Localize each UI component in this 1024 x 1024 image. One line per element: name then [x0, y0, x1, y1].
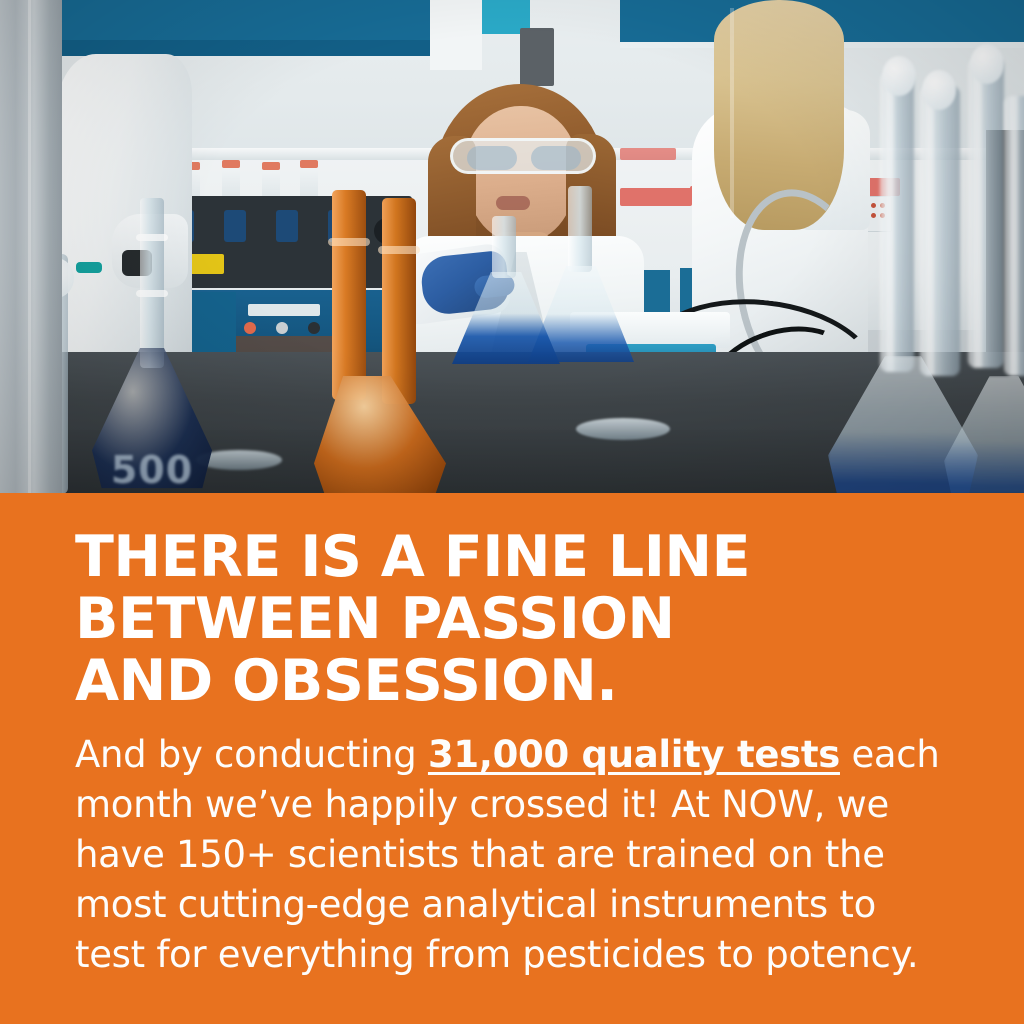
vial-cap: [262, 162, 280, 170]
laboratory-photo: 500: [0, 0, 1024, 493]
highlight: [1010, 96, 1018, 376]
column-seam: [28, 0, 31, 493]
volumetric-flask-500: 500: [92, 198, 212, 493]
flask-graduation-ring: [328, 238, 370, 246]
flask-neck: [332, 190, 366, 400]
outlet-dot: [871, 203, 876, 208]
page-title: THERE IS A FINE LINE BETWEEN PASSION AND…: [75, 526, 965, 712]
goggle-lens-left: [467, 146, 517, 170]
amber-volumetric-flasks: [318, 190, 448, 493]
flask-graduation-ring: [136, 234, 168, 241]
watch-glass: [576, 418, 670, 440]
glass-cylinder: [1004, 96, 1024, 376]
social-graphic-canvas: 500 THERE IS A FINE LINE BETWEEN PASSION…: [0, 0, 1024, 1024]
cylinder-stopper: [922, 70, 956, 110]
goggle-lens-right: [531, 146, 581, 170]
highlight: [926, 86, 934, 376]
vial-cap: [222, 160, 240, 168]
structural-column: [0, 0, 62, 493]
rack-vial: [224, 210, 246, 242]
flask-neck: [492, 216, 516, 278]
cylinder-stopper: [970, 44, 1004, 84]
flask-volume-marking: 500: [104, 448, 200, 492]
highlight: [886, 72, 894, 372]
highlight: [974, 58, 982, 368]
stat-emphasis-quality-tests: 31,000 quality tests: [428, 733, 840, 776]
erlenmeyer-flask-blue: [452, 216, 560, 364]
teal-cap-right: [76, 262, 102, 273]
mouth: [496, 196, 530, 210]
flask-body: [452, 272, 560, 364]
flask-neck: [382, 198, 416, 404]
rack-vial: [276, 210, 298, 242]
headline-line-1: THERE IS A FINE LINE: [75, 526, 965, 588]
orange-text-panel: THERE IS A FINE LINE BETWEEN PASSION AND…: [0, 493, 1024, 1024]
flask-neck: [140, 198, 164, 368]
wall-mounted-panel: [520, 28, 554, 86]
upper-cabinet-right: [920, 0, 1024, 44]
body-paragraph: And by conducting 31,000 quality tests e…: [75, 730, 947, 980]
headline-line-3: AND OBSESSION.: [75, 650, 965, 712]
body-segment-1: And by conducting: [75, 733, 428, 776]
outlet-dot: [871, 213, 876, 218]
safety-goggles-icon: [450, 138, 596, 174]
flask-neck: [568, 186, 592, 272]
glass-cylinder: [968, 58, 1004, 368]
headline-line-2: BETWEEN PASSION: [75, 588, 965, 650]
glass-cylinder: [880, 72, 914, 372]
wall-divider: [430, 0, 482, 70]
flask-graduation-ring: [378, 246, 420, 254]
cylinder-stopper: [882, 56, 916, 96]
vial-cap: [300, 160, 318, 168]
flask-graduation-ring: [136, 290, 168, 297]
glass-cylinder: [920, 86, 960, 376]
